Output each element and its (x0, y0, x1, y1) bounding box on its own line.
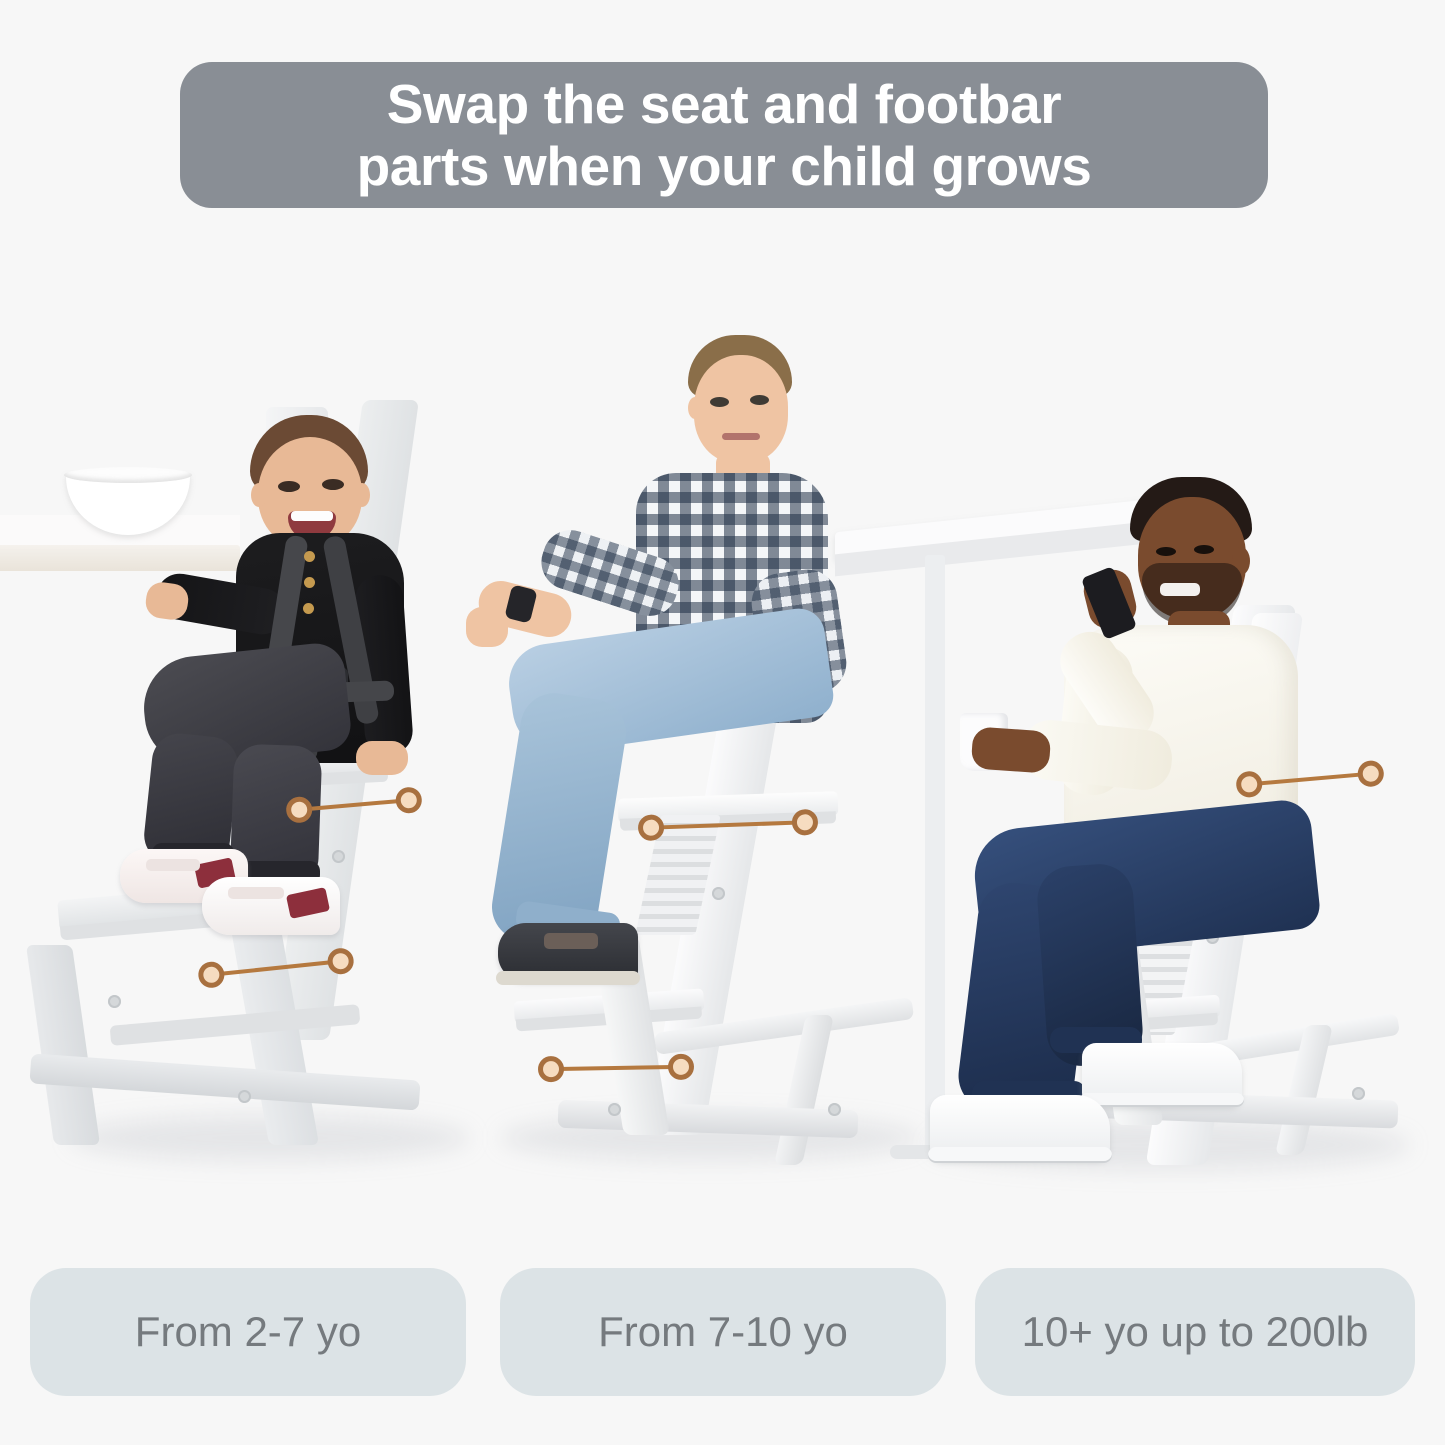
age-label-toddler-text: From 2-7 yo (135, 1308, 361, 1356)
screw-icon (828, 1103, 841, 1116)
callout-marker-start[interactable] (285, 796, 313, 824)
bowl-rim (64, 467, 192, 483)
child-shoe-sole (496, 971, 640, 985)
toddler-ear (354, 483, 370, 507)
toddler-hand (356, 741, 408, 775)
callout-marker-start[interactable] (1235, 770, 1263, 798)
chair-base-runner (26, 945, 100, 1145)
screw-icon (712, 887, 725, 900)
shirt-button (303, 603, 314, 614)
callout-mid-seat[interactable] (638, 809, 819, 841)
sneaker-strap (146, 859, 200, 871)
child-mouth (722, 433, 760, 440)
callout-marker-end[interactable] (326, 947, 355, 976)
age-label-toddler[interactable]: From 2-7 yo (30, 1268, 466, 1396)
age-range-labels: From 2-7 yo From 7-10 yo 10+ yo up to 20… (0, 1268, 1445, 1396)
callout-line (209, 959, 343, 977)
age-label-child[interactable]: From 7-10 yo (500, 1268, 946, 1396)
shirt-button (304, 551, 315, 562)
callout-marker-end[interactable] (668, 1054, 694, 1080)
callout-line (649, 820, 807, 830)
screw-icon (108, 995, 121, 1008)
age-label-adult[interactable]: 10+ yo up to 200lb (975, 1268, 1415, 1396)
callout-line (549, 1065, 683, 1071)
table-edge (0, 545, 240, 571)
screw-icon (238, 1090, 251, 1103)
sneaker-sole (1080, 1093, 1244, 1107)
shirt-button (304, 577, 315, 588)
sneaker-strap (228, 887, 284, 899)
age-label-adult-text: 10+ yo up to 200lb (1022, 1308, 1369, 1356)
child-eye (710, 397, 729, 407)
adult-teeth (1160, 583, 1200, 596)
adult-hand-on-desk (971, 726, 1052, 773)
callout-line (1247, 772, 1373, 787)
desk-leg (925, 555, 945, 1155)
callout-marker-end[interactable] (792, 809, 819, 836)
banner-title-line-1: Swap the seat and footbar (387, 73, 1062, 135)
product-infographic: Swap the seat and footbar parts when you… (0, 0, 1445, 1445)
child-head (694, 355, 788, 463)
child-hand (466, 607, 508, 647)
toddler-eye (278, 481, 300, 492)
header-banner: Swap the seat and footbar parts when you… (180, 62, 1268, 208)
screw-icon (1352, 1087, 1365, 1100)
sneaker-sole (928, 1147, 1112, 1163)
toddler-teeth (291, 511, 333, 521)
callout-marker-start[interactable] (197, 961, 226, 990)
age-label-child-text: From 7-10 yo (598, 1308, 848, 1356)
screw-icon (608, 1103, 621, 1116)
callout-mid-footbar[interactable] (538, 1054, 694, 1083)
toddler-ear (251, 483, 267, 507)
callout-marker-start[interactable] (638, 814, 665, 841)
callout-line (297, 798, 411, 812)
product-scene (0, 215, 1445, 1255)
adult-eye (1156, 547, 1176, 556)
child-eye (750, 395, 769, 405)
callout-marker-end[interactable] (395, 786, 423, 814)
screw-icon (332, 850, 345, 863)
toddler-eye (322, 479, 344, 490)
banner-title-line-2: parts when your child grows (357, 135, 1092, 197)
callout-marker-end[interactable] (1357, 760, 1385, 788)
adult-eye (1194, 545, 1214, 554)
banner-title: Swap the seat and footbar parts when you… (331, 73, 1118, 197)
child-shoe-strip (544, 933, 598, 949)
callout-marker-start[interactable] (538, 1056, 564, 1082)
child-ear (688, 397, 702, 419)
